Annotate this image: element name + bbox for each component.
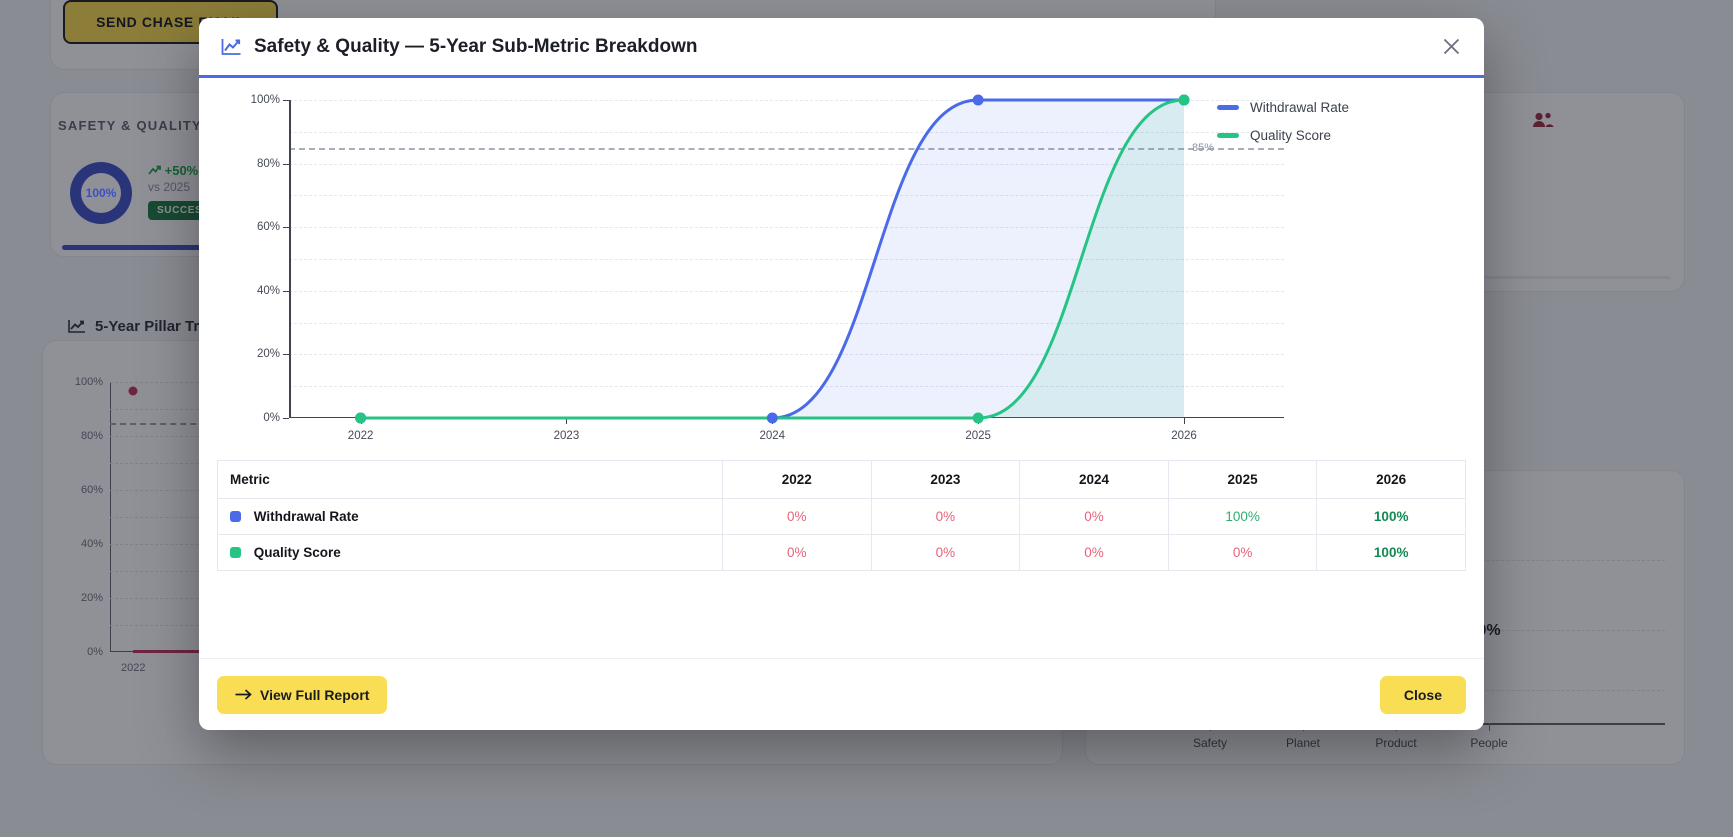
legend-item-withdrawal-rate[interactable]: Withdrawal Rate [1217, 100, 1349, 115]
chart-legend: Withdrawal Rate Quality Score [1217, 100, 1349, 143]
legend-item-quality-score[interactable]: Quality Score [1217, 128, 1349, 143]
legend-swatch [1217, 105, 1239, 110]
chart-y-tick-label: 60% [257, 221, 280, 233]
metric-value-cell: 0% [723, 499, 872, 535]
modal-header: Safety & Quality — 5-Year Sub-Metric Bre… [199, 18, 1484, 78]
sub-metric-breakdown-modal: Safety & Quality — 5-Year Sub-Metric Bre… [199, 18, 1484, 730]
column-header-metric: Metric [218, 461, 723, 499]
column-header-2025: 2025 [1168, 461, 1317, 499]
chart-plot-area: 85% 100% 80% 60% 40% 20% 0% [289, 100, 1184, 418]
metric-name-cell: Quality Score [218, 535, 723, 571]
table-row: Withdrawal Rate 0% 0% 0% 100% 100% [218, 499, 1466, 535]
modal-body: 85% 100% 80% 60% 40% 20% 0% [199, 78, 1484, 658]
modal-footer: View Full Report Close [199, 658, 1484, 730]
chart-line-icon [221, 38, 242, 56]
chart-y-tick-label: 100% [251, 94, 280, 106]
close-button[interactable]: Close [1380, 676, 1466, 714]
metric-table-head: Metric 2022 2023 2024 2025 2026 [218, 461, 1466, 499]
metric-label: Withdrawal Rate [254, 509, 359, 524]
chart-x-tick-label: 2026 [1171, 430, 1197, 442]
column-header-2024: 2024 [1020, 461, 1169, 499]
chart-y-tick-label: 40% [257, 285, 280, 297]
chart-y-tick-label: 0% [263, 412, 280, 424]
metric-value-cell: 0% [871, 499, 1020, 535]
view-full-report-button[interactable]: View Full Report [217, 676, 387, 714]
modal-title-row: Safety & Quality — 5-Year Sub-Metric Bre… [221, 36, 697, 58]
metric-value-cell: 0% [723, 535, 872, 571]
reference-line-label: 85% [1192, 142, 1214, 154]
chart-x-tick-label: 2022 [348, 430, 374, 442]
legend-label: Quality Score [1250, 128, 1331, 143]
metric-value-cell: 100% [1317, 535, 1466, 571]
view-full-report-label: View Full Report [260, 687, 369, 703]
metric-label: Quality Score [254, 545, 341, 560]
column-header-2023: 2023 [871, 461, 1020, 499]
metric-table-container: Metric 2022 2023 2024 2025 2026 Wi [217, 460, 1466, 571]
metric-color-swatch [230, 547, 241, 558]
modal-title-text: Safety & Quality — 5-Year Sub-Metric Bre… [254, 36, 697, 58]
metric-value-cell: 0% [1168, 535, 1317, 571]
legend-swatch [1217, 133, 1239, 138]
arrow-right-icon [235, 687, 252, 703]
close-icon[interactable] [1436, 32, 1466, 62]
metric-color-swatch [230, 511, 241, 522]
metric-value-cell: 0% [871, 535, 1020, 571]
chart-x-tick-label: 2025 [965, 430, 991, 442]
column-header-2022: 2022 [723, 461, 872, 499]
metric-name-cell: Withdrawal Rate [218, 499, 723, 535]
metric-value-cell: 100% [1168, 499, 1317, 535]
metric-value-cell: 0% [1020, 499, 1169, 535]
metric-value-cell: 100% [1317, 499, 1466, 535]
metric-table: Metric 2022 2023 2024 2025 2026 Wi [217, 460, 1466, 571]
column-header-2026: 2026 [1317, 461, 1466, 499]
chart-y-tick-label: 80% [257, 158, 280, 170]
donut-value: 100% [86, 186, 117, 200]
table-header-row: Metric 2022 2023 2024 2025 2026 [218, 461, 1466, 499]
chart-y-tick-label: 20% [257, 348, 280, 360]
metric-table-body: Withdrawal Rate 0% 0% 0% 100% 100% Quali… [218, 499, 1466, 571]
table-row: Quality Score 0% 0% 0% 0% 100% [218, 535, 1466, 571]
app-root: SEND CHASE EMAIL SAFETY & QUALITY 100% +… [0, 0, 1733, 837]
chart-x-tick-label: 2023 [554, 430, 580, 442]
chart-x-tick-label: 2024 [760, 430, 786, 442]
metric-value-cell: 0% [1020, 535, 1169, 571]
chart-series-svg [289, 100, 1184, 418]
chart-container: 85% 100% 80% 60% 40% 20% 0% [217, 92, 1466, 470]
legend-label: Withdrawal Rate [1250, 100, 1349, 115]
